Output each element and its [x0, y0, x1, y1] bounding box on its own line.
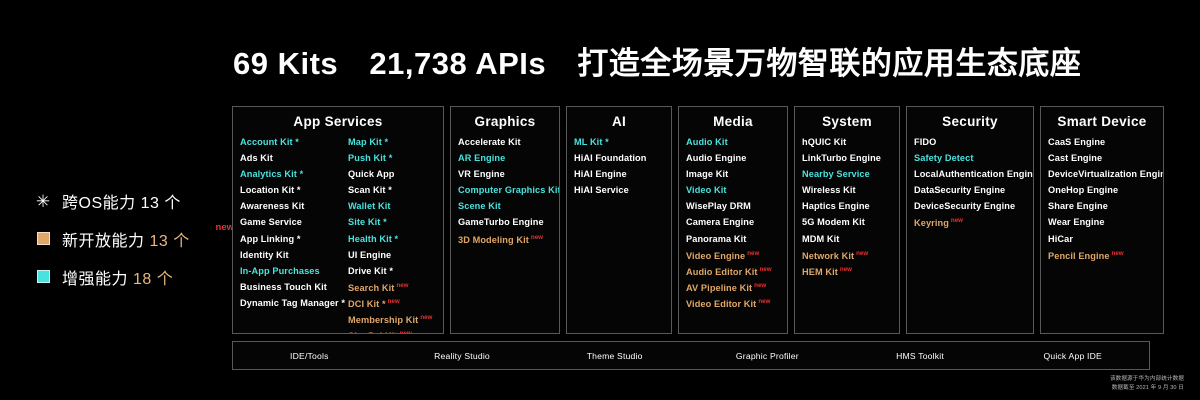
kit-item-label: Nearby Service	[802, 169, 870, 179]
footnote-line-2: 数据截至 2021 年 9 月 30 日	[1110, 384, 1184, 393]
new-badge: new	[760, 266, 772, 273]
legend: ✳跨OS能力 13 个新开放能力 13 个new增强能力 18 个	[30, 182, 230, 296]
new-badge: new	[1112, 250, 1124, 257]
orange-swatch-icon	[30, 231, 56, 248]
kit-sublist: hQUIC KitLinkTurbo EngineNearby ServiceW…	[802, 138, 892, 283]
kit-item[interactable]: Haptics Engine	[802, 202, 892, 218]
kit-item-label: Video Engine	[686, 251, 745, 261]
kit-item[interactable]: Quick App	[348, 170, 436, 186]
kit-item-label: DCI Kit	[348, 299, 379, 309]
kit-item[interactable]: OneHop Engine	[1048, 186, 1156, 202]
kit-item[interactable]: Ads Kit	[240, 154, 348, 170]
kit-item-label: Location Kit	[240, 185, 294, 195]
kit-item[interactable]: Map Kit *	[348, 138, 436, 154]
kit-item[interactable]: HiAI Service	[574, 186, 664, 202]
kit-item[interactable]: Location Kit *	[240, 186, 348, 202]
kit-item-label: HiCar	[1048, 234, 1073, 244]
kit-item[interactable]: Analytics Kit *	[240, 170, 348, 186]
kit-item-label: 3D Modeling Kit	[458, 235, 529, 245]
kit-item[interactable]: CaaS Engine	[1048, 138, 1156, 154]
kit-item-label: Drive Kit	[348, 266, 387, 276]
kit-item-label: 5G Modem Kit	[802, 217, 865, 227]
kit-sublist: Map Kit *Push Kit *Quick AppScan Kit *Wa…	[348, 138, 436, 334]
kit-item-label: Game Service	[240, 217, 302, 227]
kit-item-label: Analytics Kit	[240, 169, 297, 179]
kit-item-label: Search Kit	[348, 283, 394, 293]
kit-item[interactable]: Scan Kit *	[348, 186, 436, 202]
category-items-system: hQUIC KitLinkTurbo EngineNearby ServiceW…	[795, 138, 899, 283]
cross-os-asterisk-icon: *	[382, 137, 388, 147]
kit-item[interactable]: WisePlay DRM	[686, 202, 780, 218]
title-apis-count: 21,738 APIs	[369, 46, 546, 81]
kit-item[interactable]: Panorama Kit	[686, 235, 780, 251]
kit-item[interactable]: Pencil Enginenew	[1048, 251, 1156, 267]
category-title-smart-device: Smart Device	[1041, 114, 1163, 138]
kit-item[interactable]: DCI Kit *new	[348, 299, 436, 315]
kit-item-label: hQUIC Kit	[802, 137, 846, 147]
kit-item[interactable]: DeviceSecurity Engine	[914, 202, 1026, 218]
kit-item-label: Safety Detect	[914, 153, 974, 163]
kit-item-label: SignPal Kit	[348, 331, 398, 334]
kit-sublist: ML Kit *HiAI FoundationHiAI EngineHiAI S…	[574, 138, 664, 202]
kit-item[interactable]: Dynamic Tag Manager *	[240, 299, 348, 315]
kit-item[interactable]: DeviceVirtualization Engine	[1048, 170, 1156, 186]
kit-item-label: Scan Kit	[348, 185, 386, 195]
kit-item-label: Image Kit	[686, 169, 728, 179]
kit-item-label: Video Kit	[686, 185, 727, 195]
kit-item[interactable]: Push Kit *	[348, 154, 436, 170]
kit-item[interactable]: Share Engine	[1048, 202, 1156, 218]
footnote: 该数据源于华为内部统计数据 数据截至 2021 年 9 月 30 日	[1110, 375, 1184, 393]
tool-item[interactable]: IDE/Tools	[233, 351, 386, 361]
cross-os-asterisk-icon: *	[392, 234, 398, 244]
cyan-swatch-icon	[30, 269, 56, 286]
kit-item[interactable]: DataSecurity Engine	[914, 186, 1026, 202]
kit-item[interactable]: MDM Kit	[802, 235, 892, 251]
category-items-smart-device: CaaS EngineCast EngineDeviceVirtualizati…	[1041, 138, 1163, 267]
kit-item-label: UI Engine	[348, 250, 391, 260]
kit-item[interactable]: AR Engine	[458, 154, 552, 170]
kit-item-label: HiAI Engine	[574, 169, 627, 179]
kit-item-label: Membership Kit	[348, 315, 418, 325]
kit-item-label: Keyring	[914, 219, 949, 229]
kit-item-label: Health Kit	[348, 234, 392, 244]
new-badge: new	[951, 217, 963, 224]
category-title-system: System	[795, 114, 899, 138]
kit-item[interactable]: Audio Engine	[686, 154, 780, 170]
legend-item-label: 跨OS能力 13 个	[62, 189, 181, 213]
kit-item[interactable]: Business Touch Kit	[240, 283, 348, 299]
kit-item-label: Haptics Engine	[802, 201, 870, 211]
kit-category-grid: App ServicesAccount Kit *Ads KitAnalytic…	[232, 106, 1150, 334]
kit-item-label: HiAI Service	[574, 185, 629, 195]
kit-item[interactable]: VR Engine	[458, 170, 552, 186]
cross-os-asterisk-icon: *	[386, 153, 392, 163]
category-title-ai: AI	[567, 114, 671, 138]
title-tagline: 打造全场景万物智联的应用生态底座	[577, 46, 1081, 81]
tool-item[interactable]: Graphic Profiler	[691, 351, 844, 361]
category-items-ai: ML Kit *HiAI FoundationHiAI EngineHiAI S…	[567, 138, 671, 202]
legend-item-cyan-swatch: 增强能力 18 个	[30, 258, 230, 296]
cross-os-asterisk-icon: *	[297, 169, 303, 179]
kit-item-label: Pencil Engine	[1048, 251, 1110, 261]
kit-item-label: LinkTurbo Engine	[802, 153, 881, 163]
kit-item-label: Network Kit	[802, 251, 854, 261]
kit-item-label: Account Kit	[240, 137, 293, 147]
kit-item-label: Push Kit	[348, 153, 386, 163]
kit-item[interactable]: HEM Kitnew	[802, 267, 892, 283]
category-column-security: SecurityFIDOSafety DetectLocalAuthentica…	[906, 106, 1034, 334]
kit-item[interactable]: Drive Kit *	[348, 267, 436, 283]
kit-item[interactable]: HiAI Foundation	[574, 154, 664, 170]
kit-item-label: Camera Engine	[686, 217, 754, 227]
kit-sublist: CaaS EngineCast EngineDeviceVirtualizati…	[1048, 138, 1156, 267]
kit-item[interactable]: Wireless Kit	[802, 186, 892, 202]
kit-item-label: Audio Kit	[686, 137, 728, 147]
kit-item[interactable]: Computer Graphics Kit	[458, 186, 552, 202]
category-column-ai: AIML Kit *HiAI FoundationHiAI EngineHiAI…	[566, 106, 672, 334]
kit-item-label: Cast Engine	[1048, 153, 1102, 163]
kit-item-label: Wear Engine	[1048, 217, 1105, 227]
orange-swatch-icon	[37, 232, 50, 245]
kit-item-label: WisePlay DRM	[686, 201, 751, 211]
kit-item[interactable]: 3D Modeling Kitnew	[458, 235, 552, 251]
kit-sublist: Account Kit *Ads KitAnalytics Kit *Locat…	[240, 138, 348, 334]
kit-item[interactable]: FIDO	[914, 138, 1026, 154]
kit-item[interactable]: Health Kit *	[348, 235, 436, 251]
kit-item-label: Audio Editor Kit	[686, 267, 758, 277]
legend-item-count: 13 个	[136, 195, 181, 212]
category-column-system: SystemhQUIC KitLinkTurbo EngineNearby Se…	[794, 106, 900, 334]
kit-item[interactable]: Wallet Kit	[348, 202, 436, 218]
cross-os-asterisk-icon: *	[294, 185, 300, 195]
kit-item[interactable]: Search Kitnew	[348, 283, 436, 299]
tools-bar: IDE/ToolsReality StudioTheme StudioGraph…	[232, 341, 1150, 370]
kit-item[interactable]: UI Engine	[348, 251, 436, 267]
kit-item-label: Business Touch Kit	[240, 282, 327, 292]
new-badge: new	[396, 282, 408, 289]
tool-item[interactable]: HMS Toolkit	[844, 351, 997, 361]
kit-item[interactable]: Camera Engine	[686, 218, 780, 234]
kit-item-label: CaaS Engine	[1048, 137, 1105, 147]
category-title-security: Security	[907, 114, 1033, 138]
kit-item[interactable]: Game Service	[240, 218, 348, 234]
tool-item[interactable]: Theme Studio	[538, 351, 691, 361]
asterisk-icon: ✳	[30, 193, 56, 210]
kit-item[interactable]: Video Editor Kitnew	[686, 299, 780, 315]
kit-item-label: OneHop Engine	[1048, 185, 1118, 195]
kit-item-label: Map Kit	[348, 137, 382, 147]
kit-item[interactable]: SignPal Kitnew	[348, 331, 436, 334]
kit-item-label: MDM Kit	[802, 234, 839, 244]
kit-item[interactable]: Keyringnew	[914, 218, 1026, 234]
kit-item[interactable]: Accelerate Kit	[458, 138, 552, 154]
category-title-media: Media	[679, 114, 787, 138]
kit-item-label: Dynamic Tag Manager	[240, 298, 339, 308]
kit-item[interactable]: Audio Kit	[686, 138, 780, 154]
kit-item[interactable]: HiAI Engine	[574, 170, 664, 186]
new-badge: new	[840, 266, 852, 273]
category-title-graphics: Graphics	[451, 114, 559, 138]
kit-item-label: App Linking	[240, 234, 294, 244]
kit-item-label: AV Pipeline Kit	[686, 283, 752, 293]
kit-item[interactable]: Scene Kit	[458, 202, 552, 218]
kit-item[interactable]: HiCar	[1048, 235, 1156, 251]
new-badge: new	[754, 282, 766, 289]
kit-item-label: GameTurbo Engine	[458, 217, 544, 227]
kit-item[interactable]: In-App Purchases	[240, 267, 348, 283]
category-items-media: Audio KitAudio EngineImage KitVideo KitW…	[679, 138, 787, 315]
kit-item[interactable]: 5G Modem Kit	[802, 218, 892, 234]
kit-item-label: HEM Kit	[802, 267, 838, 277]
legend-item-count: 18 个	[128, 271, 173, 288]
kit-item-label: Identity Kit	[240, 250, 289, 260]
title-kits-count: 69 Kits	[233, 46, 338, 81]
footnote-line-1: 该数据源于华为内部统计数据	[1110, 375, 1184, 384]
cross-os-asterisk-icon: *	[380, 217, 386, 227]
kit-item-label: Accelerate Kit	[458, 137, 521, 147]
kit-item-label: Scene Kit	[458, 201, 501, 211]
category-items-graphics: Accelerate KitAR EngineVR EngineComputer…	[451, 138, 559, 251]
kit-item-label: Computer Graphics Kit	[458, 185, 560, 195]
kit-item-label: AR Engine	[458, 153, 505, 163]
legend-item-count: 13 个	[145, 233, 190, 250]
cross-os-asterisk-icon: *	[293, 137, 299, 147]
category-column-media: MediaAudio KitAudio EngineImage KitVideo…	[678, 106, 788, 334]
cross-os-asterisk-icon: *	[387, 266, 393, 276]
kit-item-label: Video Editor Kit	[686, 299, 756, 309]
kit-item-label: FIDO	[914, 137, 936, 147]
kit-item[interactable]: Identity Kit	[240, 251, 348, 267]
kit-item[interactable]: Site Kit *	[348, 218, 436, 234]
kit-item[interactable]: Audio Editor Kitnew	[686, 267, 780, 283]
tool-item[interactable]: Reality Studio	[386, 351, 539, 361]
category-title-app-services: App Services	[233, 114, 443, 138]
kit-item[interactable]: Network Kitnew	[802, 251, 892, 267]
new-badge: new	[747, 250, 759, 257]
kit-item[interactable]: AV Pipeline Kitnew	[686, 283, 780, 299]
kit-item-label: DataSecurity Engine	[914, 185, 1005, 195]
kit-item-label: Awareness Kit	[240, 201, 304, 211]
kit-item-label: HiAI Foundation	[574, 153, 646, 163]
category-column-smart-device: Smart DeviceCaaS EngineCast EngineDevice…	[1040, 106, 1164, 334]
kit-item[interactable]: App Linking *	[240, 235, 348, 251]
kit-item-label: Site Kit	[348, 217, 380, 227]
cross-os-asterisk-icon: *	[294, 234, 300, 244]
kit-item[interactable]: ML Kit *	[574, 138, 664, 154]
cyan-swatch-icon	[37, 270, 50, 283]
legend-item-asterisk-marker: ✳跨OS能力 13 个	[30, 182, 230, 220]
category-column-graphics: GraphicsAccelerate KitAR EngineVR Engine…	[450, 106, 560, 334]
kit-item[interactable]: Cast Engine	[1048, 154, 1156, 170]
kit-item-label: ML Kit	[574, 137, 603, 147]
kit-sublist: Accelerate KitAR EngineVR EngineComputer…	[458, 138, 552, 251]
kit-item-label: Ads Kit	[240, 153, 273, 163]
kit-item-label: Share Engine	[1048, 201, 1108, 211]
kit-item-label: Quick App	[348, 169, 395, 179]
kit-item[interactable]: Video Enginenew	[686, 251, 780, 267]
kit-item[interactable]: Awareness Kit	[240, 202, 348, 218]
kit-item[interactable]: Safety Detect	[914, 154, 1026, 170]
kit-item-label: LocalAuthentication Engine	[914, 169, 1034, 179]
new-badge: new	[388, 298, 400, 305]
kit-item[interactable]: Image Kit	[686, 170, 780, 186]
new-badge: new	[758, 298, 770, 305]
category-items-security: FIDOSafety DetectLocalAuthentication Eng…	[907, 138, 1033, 235]
hms-kits-overview-slide: 69 Kits 21,738 APIs 打造全场景万物智联的应用生态底座 ✳跨O…	[0, 0, 1200, 400]
kit-sublist: Audio KitAudio EngineImage KitVideo KitW…	[686, 138, 780, 315]
new-badge: new	[856, 250, 868, 257]
new-badge: new	[400, 330, 412, 334]
cross-os-asterisk-icon: *	[603, 137, 609, 147]
kit-item[interactable]: Membership Kitnew	[348, 315, 436, 331]
page-title: 69 Kits 21,738 APIs 打造全场景万物智联的应用生态底座	[233, 38, 1081, 83]
kit-item[interactable]: LocalAuthentication Engine	[914, 170, 1026, 186]
kit-item[interactable]: Account Kit *	[240, 138, 348, 154]
kit-item-label: Wallet Kit	[348, 201, 391, 211]
kit-item[interactable]: hQUIC Kit	[802, 138, 892, 154]
new-badge: new	[531, 234, 543, 241]
kit-item-label: In-App Purchases	[240, 266, 320, 276]
kit-item-label: VR Engine	[458, 169, 505, 179]
kit-item-label: DeviceVirtualization Engine	[1048, 169, 1164, 179]
kit-item[interactable]: LinkTurbo Engine	[802, 154, 892, 170]
tool-item[interactable]: Quick App IDE	[996, 351, 1149, 361]
kit-sublist: FIDOSafety DetectLocalAuthentication Eng…	[914, 138, 1026, 235]
legend-item-label: 增强能力 18 个	[62, 265, 173, 289]
legend-item-label: 新开放能力 13 个	[62, 227, 190, 251]
kit-item-label: Audio Engine	[686, 153, 746, 163]
category-items-app-services: Account Kit *Ads KitAnalytics Kit *Locat…	[233, 138, 443, 334]
kit-item-label: DeviceSecurity Engine	[914, 201, 1015, 211]
kit-item[interactable]: Wear Engine	[1048, 218, 1156, 234]
kit-item-label: Wireless Kit	[802, 185, 856, 195]
cross-os-asterisk-icon: *	[339, 298, 345, 308]
category-column-app-services: App ServicesAccount Kit *Ads KitAnalytic…	[232, 106, 444, 334]
kit-item[interactable]: Video Kit	[686, 186, 780, 202]
cross-os-asterisk-icon: *	[386, 185, 392, 195]
legend-item-orange-swatch: 新开放能力 13 个new	[30, 220, 230, 258]
cross-os-asterisk-icon: *	[379, 299, 385, 309]
kit-item[interactable]: Nearby Service	[802, 170, 892, 186]
kit-item[interactable]: GameTurbo Engine	[458, 218, 552, 234]
kit-item-label: Panorama Kit	[686, 234, 746, 244]
new-badge: new	[420, 314, 432, 321]
